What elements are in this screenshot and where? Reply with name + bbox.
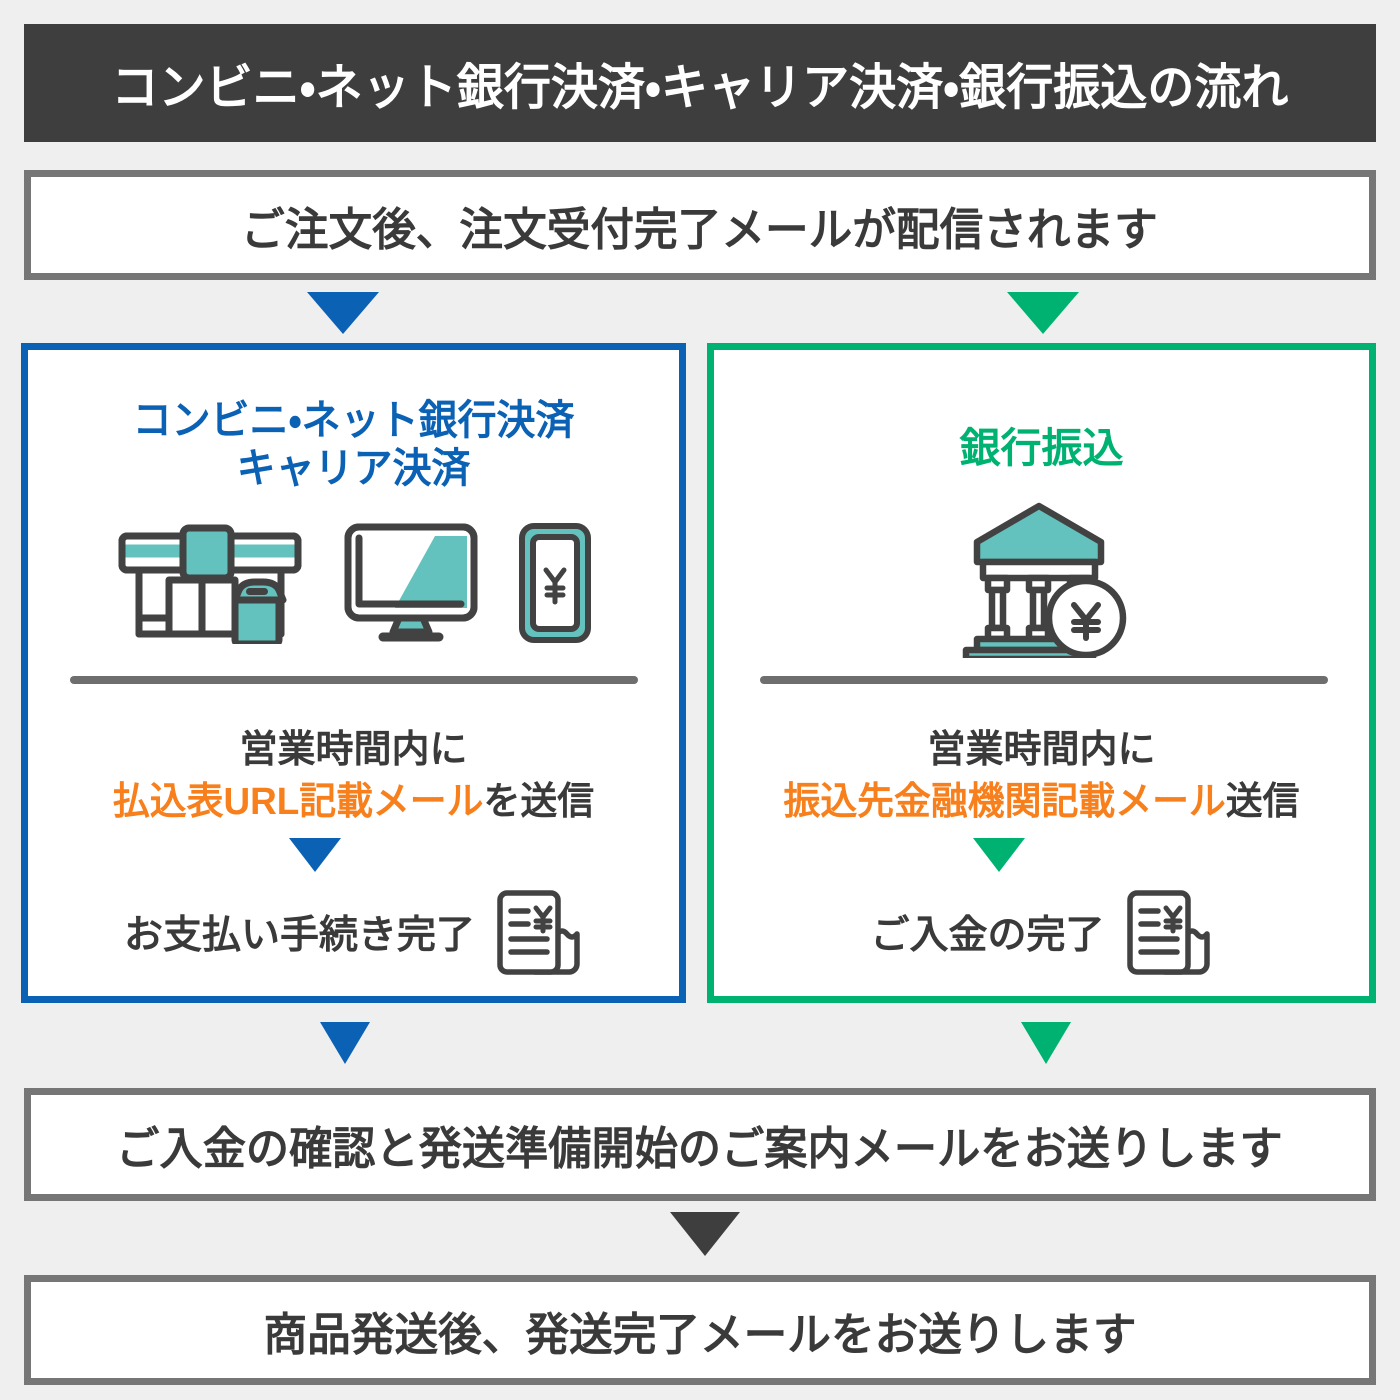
receipt-yen-icon xyxy=(1121,886,1213,978)
konbini-icon-strip xyxy=(28,522,679,644)
panel-furikomi-title: 銀行振込 xyxy=(714,425,1369,473)
furikomi-line2-tail: 送信 xyxy=(1226,781,1300,823)
arrow-down-to-shipped-icon xyxy=(670,1212,740,1256)
step-order-label: ご注文後、注文受付完了メールが配信されます xyxy=(242,193,1159,258)
furikomi-final-label: ご入金の完了 xyxy=(870,904,1104,960)
furikomi-final-row: ご入金の完了 xyxy=(714,886,1369,978)
smartphone-yen-icon xyxy=(517,522,593,644)
konbini-final-row: お支払い手続き完了 xyxy=(28,886,679,978)
furikomi-body-line2: 振込先金融機関記載メール送信 xyxy=(724,770,1359,825)
furikomi-highlight-text: 振込先金融機関記載メール xyxy=(783,781,1225,823)
step-box-shipment-complete: 商品発送後、発送完了メールをお送りします xyxy=(24,1275,1376,1385)
convenience-store-icon xyxy=(115,524,305,644)
konbini-inner-arrow-wrap xyxy=(28,838,679,872)
arrow-down-furikomi-icon xyxy=(973,838,1025,872)
konbini-body-line2: 払込表URL記載メールを送信 xyxy=(38,770,669,825)
konbini-line2-tail: を送信 xyxy=(484,781,595,823)
arrow-down-konbini-icon xyxy=(289,838,341,872)
step-box-order-received: ご注文後、注文受付完了メールが配信されます xyxy=(24,170,1376,280)
furikomi-divider xyxy=(760,676,1328,684)
panel-konbini-title: コンビニ・ネット銀行決済 キャリア決済 xyxy=(44,397,662,492)
konbini-divider xyxy=(70,676,638,684)
konbini-body-line1: 営業時間内に xyxy=(28,718,679,773)
konbini-highlight-text: 払込表URL記載メール xyxy=(113,781,484,823)
furikomi-body-line1: 営業時間内に xyxy=(714,718,1369,773)
page-title: コンビニ・ネット銀行決済・キャリア決済・銀行振込の流れ xyxy=(112,48,1289,119)
payment-method-panel-furikomi: 銀行振込 xyxy=(707,343,1376,1003)
step-confirm-label: ご入金の確認と発送準備開始のご案内メールをお送りします xyxy=(117,1112,1283,1177)
receipt-yen-icon xyxy=(491,886,583,978)
furikomi-icon-strip xyxy=(714,498,1369,658)
bank-yen-icon xyxy=(947,498,1137,658)
furikomi-inner-arrow-wrap xyxy=(714,838,1369,872)
step-shipped-label: 商品発送後、発送完了メールをお送りします xyxy=(263,1298,1136,1363)
desktop-monitor-icon xyxy=(343,522,479,644)
arrow-down-to-furikomi-icon xyxy=(1007,292,1079,334)
arrow-down-konbini-to-confirm-icon xyxy=(320,1022,370,1064)
payment-method-panel-konbini: コンビニ・ネット銀行決済 キャリア決済 xyxy=(21,343,686,1003)
step-box-payment-confirmed: ご入金の確認と発送準備開始のご案内メールをお送りします xyxy=(24,1088,1376,1201)
arrow-down-to-konbini-icon xyxy=(307,292,379,334)
page-title-bar: コンビニ・ネット銀行決済・キャリア決済・銀行振込の流れ xyxy=(24,24,1376,142)
arrow-down-furikomi-to-confirm-icon xyxy=(1021,1022,1071,1064)
konbini-final-label: お支払い手続き完了 xyxy=(124,904,475,960)
